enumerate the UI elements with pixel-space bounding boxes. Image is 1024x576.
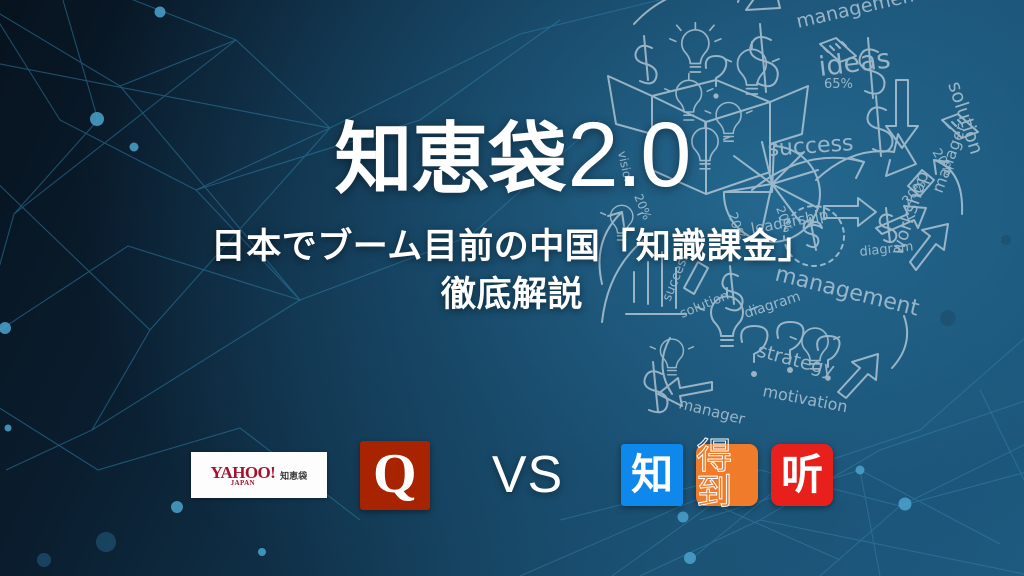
subtitle-line-2: 徹底解説 <box>211 271 813 319</box>
versus-label: VS <box>492 445 563 505</box>
dedao-logo[interactable]: 得到 <box>696 444 758 506</box>
quora-logo[interactable]: Q <box>360 441 430 510</box>
title-version: 2.0 <box>568 109 690 201</box>
yahoo-wordmark-text: YAHOO! <box>210 464 275 481</box>
yahoo-wordmark: YAHOO! JAPAN <box>210 464 275 487</box>
page-title: 知恵袋 2.0 <box>335 109 690 201</box>
subtitle-line-1: 日本でブーム目前の中国「知識課金」 <box>211 227 813 267</box>
quora-glyph: Q <box>373 446 417 502</box>
ximalaya-ting-logo[interactable]: 听 <box>771 444 833 506</box>
headline-block: 知恵袋 2.0 日本でブーム目前の中国「知識課金」 徹底解説 <box>0 0 1024 420</box>
yahoo-chiebukuro-text: 知恵袋 <box>280 469 307 482</box>
dedao-glyph: 得到 <box>696 439 758 511</box>
logo-group-japan: YAHOO! JAPAN 知恵袋 Q <box>191 441 430 510</box>
yahoo-region-text: JAPAN <box>231 480 255 487</box>
title-japanese: 知恵袋 <box>335 121 566 199</box>
zhihu-logo[interactable]: 知 <box>621 444 683 506</box>
subtitle: 日本でブーム目前の中国「知識課金」 徹底解説 <box>211 223 813 320</box>
presentation-slide: .dk{fill:none;stroke:#e3ebf1;stroke-widt… <box>0 0 1024 576</box>
logo-comparison-row: YAHOO! JAPAN 知恵袋 Q VS 知 得到 听 <box>0 420 1024 530</box>
logo-group-china: 知 得到 听 <box>621 444 833 506</box>
ting-glyph: 听 <box>781 454 823 496</box>
yahoo-chiebukuro-logo[interactable]: YAHOO! JAPAN 知恵袋 <box>191 452 327 498</box>
zhihu-glyph: 知 <box>631 454 673 496</box>
